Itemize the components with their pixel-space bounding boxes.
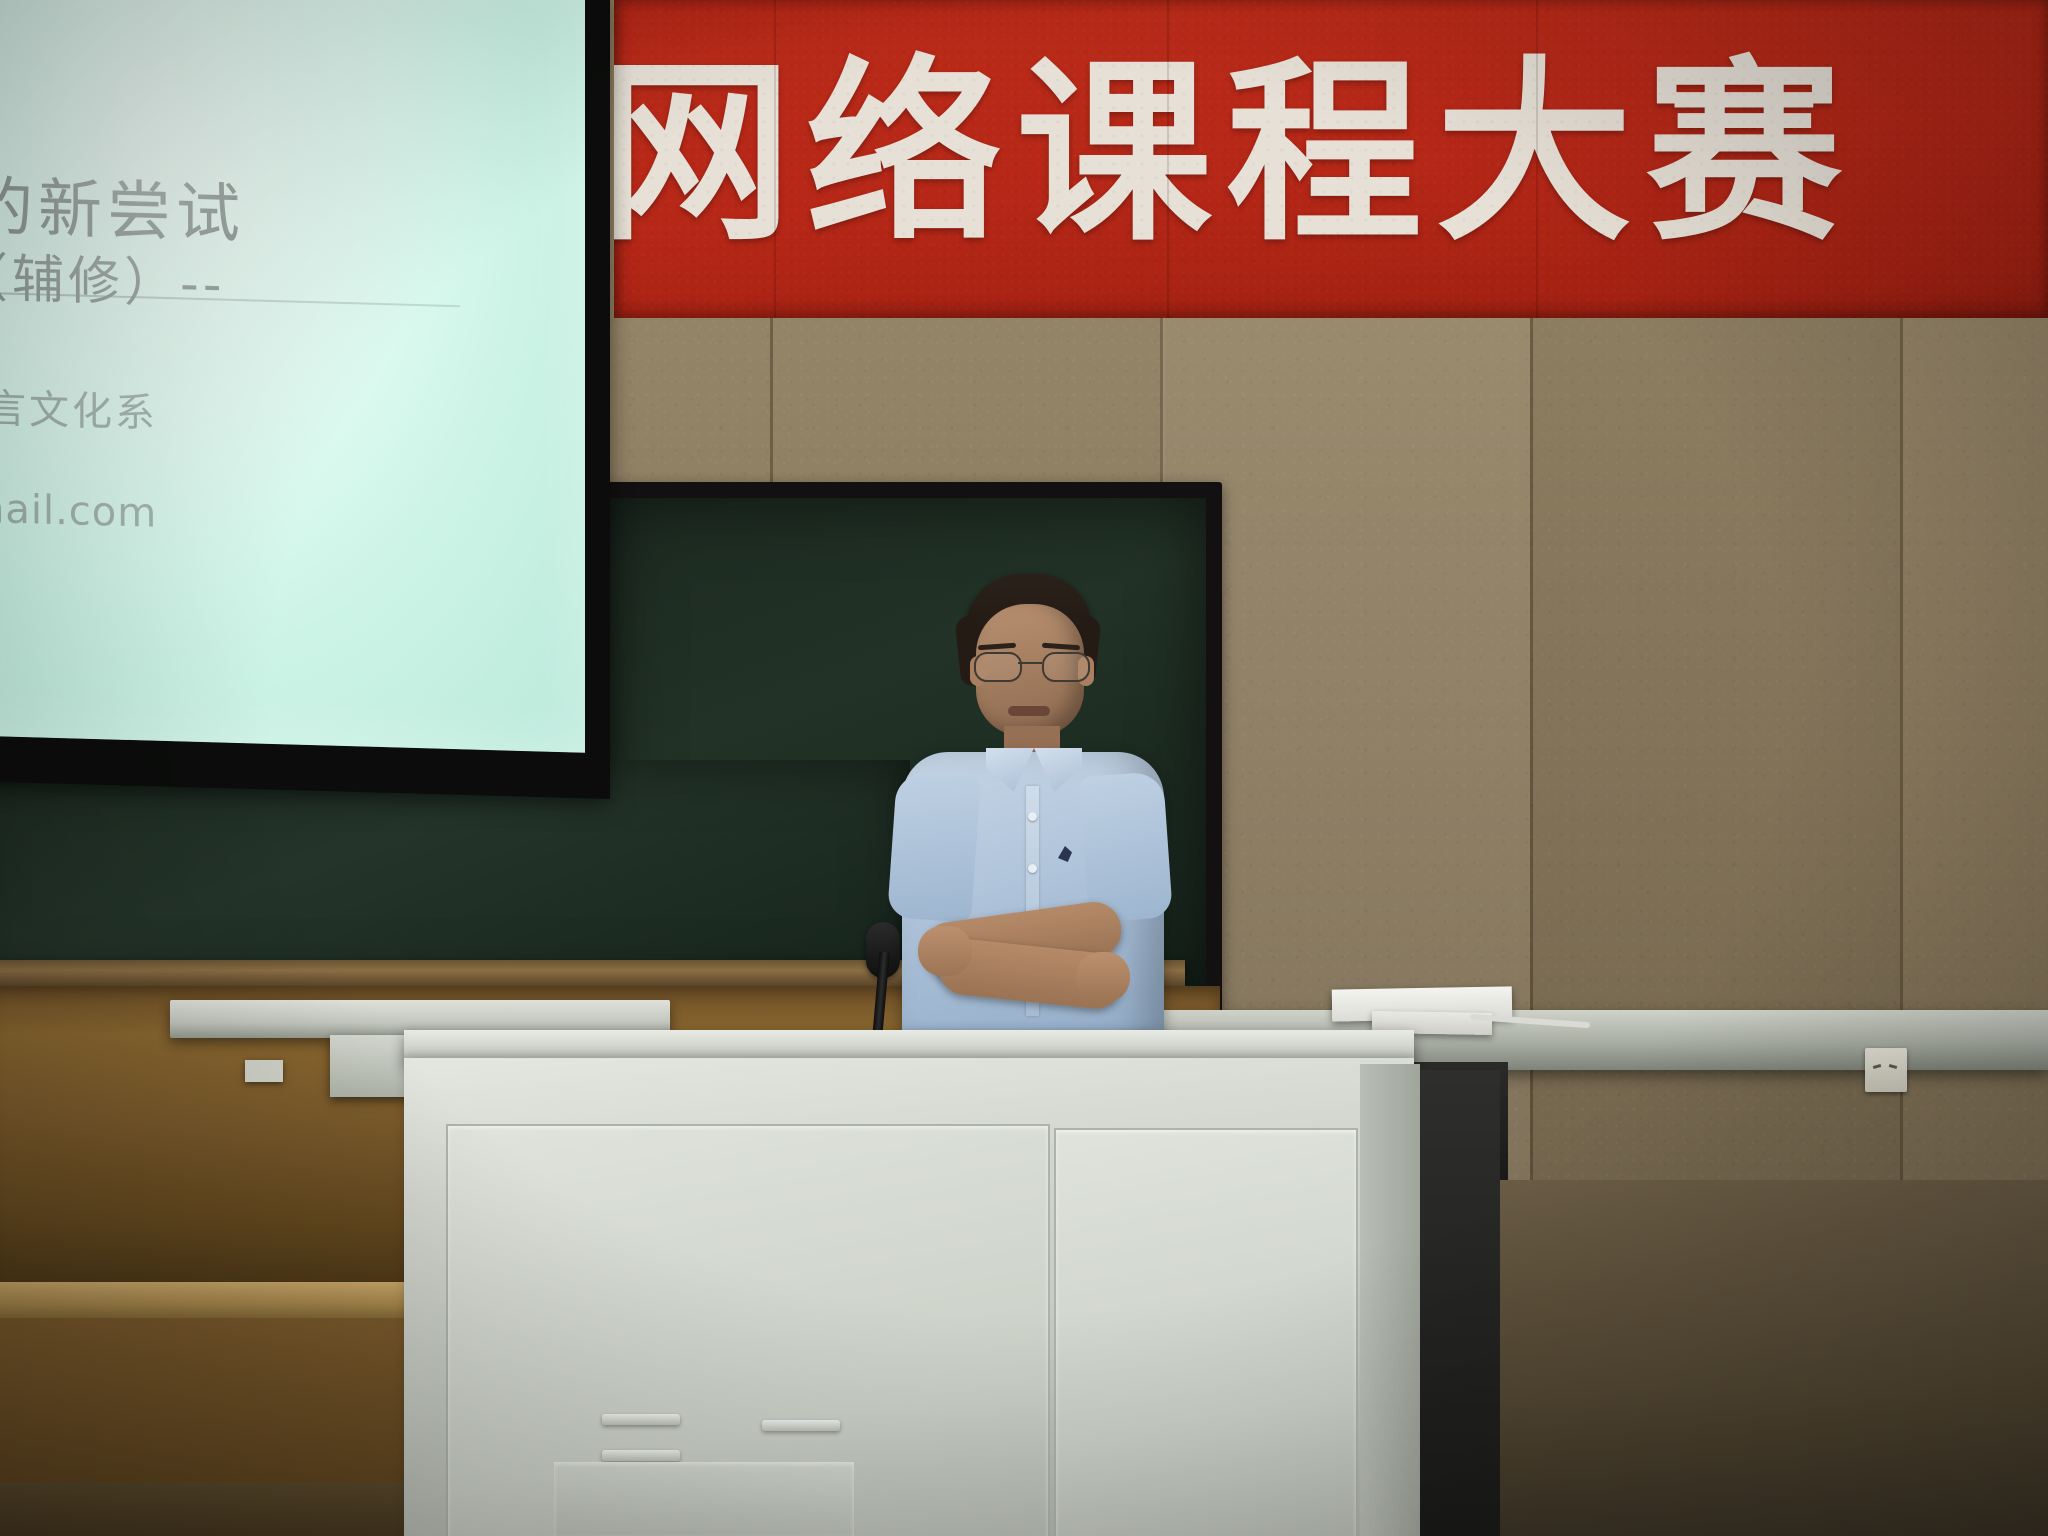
banner-fold (1167, 0, 1169, 318)
outlet-slot (1873, 1064, 1882, 1069)
eyeglasses-icon (972, 652, 1090, 678)
podium-side (1360, 1064, 1420, 1536)
podium-lower-panel (554, 1462, 854, 1536)
podium (404, 1058, 1414, 1536)
sleeve (887, 771, 981, 923)
bridge (1018, 662, 1042, 664)
mouth (1008, 706, 1050, 716)
wall-outlet-icon (1865, 1048, 1907, 1092)
banner-fold (1536, 0, 1538, 318)
shirt-button (1028, 864, 1037, 873)
slide-subtitle-line: 说（辅修）-- (0, 234, 226, 318)
floor-left (0, 1482, 420, 1536)
banner-fold (774, 0, 776, 318)
floor-right (1490, 1180, 2048, 1536)
collar-flap (1034, 748, 1082, 792)
outlet-slot (1889, 1064, 1898, 1069)
av-equipment-box (330, 1035, 415, 1097)
photo-scene: 网络课程大赛 学的新尝试 说（辅修）-- 本语言文化系 建军 @gmail.co… (0, 0, 2048, 1536)
projection-screen: 学的新尝试 说（辅修）-- 本语言文化系 建军 @gmail.com (0, 0, 585, 753)
podium-handle (602, 1414, 680, 1425)
red-banner: 网络课程大赛 (614, 0, 2048, 318)
banner-text: 网络课程大赛 (614, 56, 1856, 252)
lens (1042, 652, 1090, 682)
podium-dark-edge (1420, 1070, 1500, 1536)
hand (1076, 952, 1130, 1002)
presenter (880, 560, 1180, 1080)
shirt-button (1028, 812, 1037, 821)
sleeve (1079, 771, 1173, 923)
hand (918, 926, 972, 976)
slide-department-line: 本语言文化系 (0, 374, 158, 439)
presentation-slide: 学的新尝试 说（辅修）-- 本语言文化系 建军 @gmail.com (0, 0, 585, 753)
podium-handle (762, 1420, 840, 1431)
podium-handle (602, 1450, 680, 1461)
av-equipment-small (245, 1060, 283, 1082)
lens (974, 652, 1022, 682)
podium-panel (1054, 1128, 1358, 1536)
slide-email-line: @gmail.com (0, 484, 157, 537)
